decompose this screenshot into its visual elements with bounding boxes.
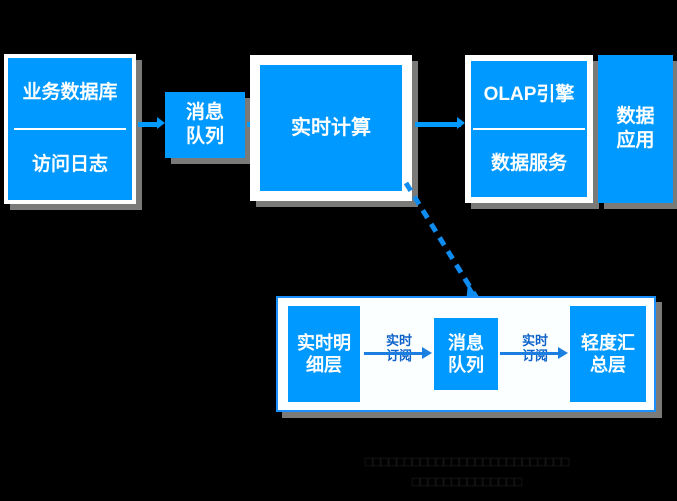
watermark-line-1: □□□□□□□□□□□□□□□□□□□□□□□□□□	[262, 452, 672, 472]
connector-source-to-queue-arrowhead-icon	[157, 117, 165, 129]
block-olap-engine-label: OLAP引擎	[484, 83, 575, 107]
arrow-label-realtime-subscribe-1: 实时 订阅	[372, 334, 426, 364]
connector-compute-to-serving	[415, 122, 461, 127]
block-message-queue-label: 消息 队列	[186, 101, 224, 149]
watermark: □□□□□□□□□□□□□□□□□□□□□□□□□□ □□□□□□□□□□□□□…	[262, 452, 672, 494]
diagram-canvas: 业务数据库 访问日志 消息 队列 实时计算 OLAP引擎 数据服务 数据	[0, 0, 677, 501]
block-realtime-detail-layer-label-line1: 实时明	[297, 333, 351, 353]
block-message-queue-label-line1: 消息	[186, 102, 224, 123]
arrow-label-realtime-subscribe-1-line2: 订阅	[386, 348, 412, 363]
block-message-queue[interactable]: 消息 队列	[165, 92, 245, 158]
watermark-line-2: □□□□□□□□□□□□□□	[262, 472, 672, 492]
block-realtime-detail-layer-label: 实时明 细层	[297, 332, 351, 377]
connector-detail-to-queue-arrowhead-icon	[422, 347, 432, 359]
block-olap-engine[interactable]: OLAP引擎	[471, 61, 587, 128]
block-data-service-label: 数据服务	[491, 152, 567, 176]
block-realtime-detail-layer-label-line2: 细层	[306, 355, 342, 375]
block-access-log[interactable]: 访问日志	[8, 130, 132, 200]
arrow-label-realtime-subscribe-2-line1: 实时	[522, 333, 548, 348]
block-realtime-detail-layer[interactable]: 实时明 细层	[288, 306, 360, 402]
block-message-queue-label-line2: 队列	[186, 126, 224, 147]
block-light-summary-layer-label: 轻度汇 总层	[581, 332, 635, 377]
block-data-application-label-line2: 应用	[616, 130, 654, 151]
block-panel-message-queue-label: 消息 队列	[448, 332, 484, 377]
block-panel-message-queue-label-line2: 队列	[448, 355, 484, 375]
arrow-label-realtime-subscribe-2-line2: 订阅	[522, 348, 548, 363]
connector-compute-to-serving-arrowhead-icon	[457, 117, 465, 129]
block-light-summary-layer[interactable]: 轻度汇 总层	[570, 306, 646, 402]
block-realtime-compute-label: 实时计算	[291, 116, 371, 141]
block-light-summary-layer-label-line2: 总层	[590, 355, 626, 375]
connector-compute-to-panel	[380, 180, 500, 310]
connector-queue-to-summary-arrowhead-icon	[558, 347, 568, 359]
block-data-application-label-line1: 数据	[616, 106, 654, 127]
block-light-summary-layer-label-line1: 轻度汇	[581, 333, 635, 353]
block-panel-message-queue[interactable]: 消息 队列	[434, 318, 498, 390]
connector-detail-to-queue	[364, 352, 426, 355]
block-business-database[interactable]: 业务数据库	[8, 58, 132, 128]
arrow-label-realtime-subscribe-1-line1: 实时	[386, 333, 412, 348]
connector-compute-to-panel-dashed-line	[406, 183, 478, 300]
block-realtime-compute[interactable]: 实时计算	[260, 65, 402, 191]
block-data-application[interactable]: 数据 应用	[598, 55, 673, 203]
block-panel-message-queue-label-line1: 消息	[448, 333, 484, 353]
arrow-label-realtime-subscribe-2: 实时 订阅	[508, 334, 562, 364]
block-access-log-label: 访问日志	[32, 153, 108, 177]
connector-queue-to-summary	[500, 352, 562, 355]
block-business-database-label: 业务数据库	[22, 81, 117, 105]
block-data-application-label: 数据 应用	[616, 105, 654, 153]
